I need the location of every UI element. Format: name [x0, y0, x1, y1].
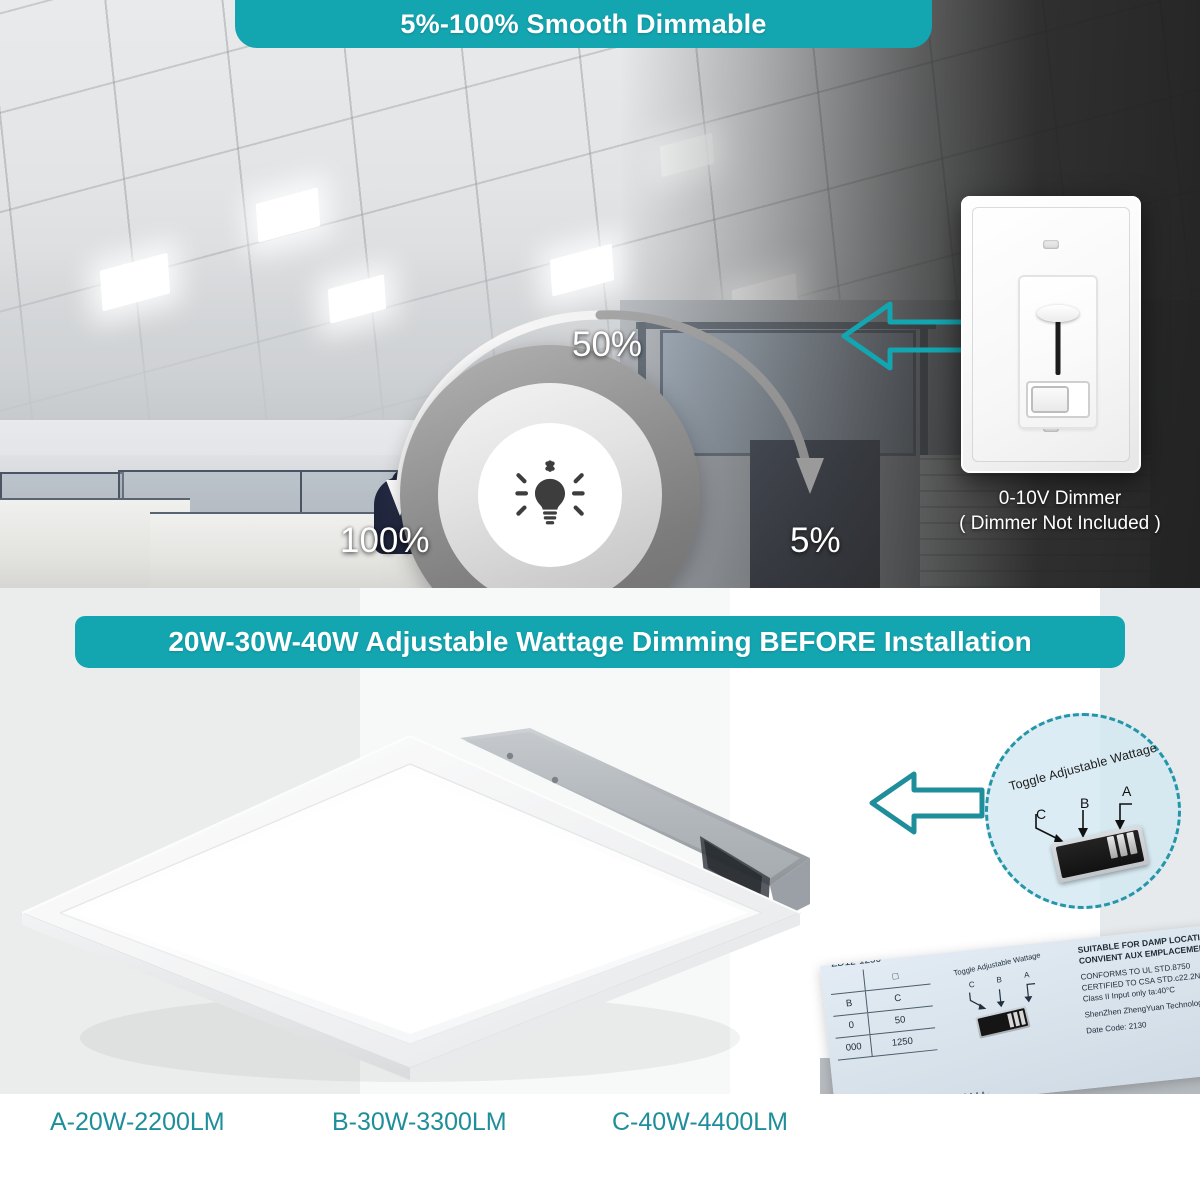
label-letter-a: A — [1024, 970, 1030, 980]
top-banner: 5%-100% Smooth Dimmable — [235, 0, 932, 48]
toggle-wattage-callout: Toggle Adjustable Wattage C B A — [985, 713, 1181, 909]
dimmer-control-plate[interactable] — [1020, 277, 1096, 427]
callout-title: Toggle Adjustable Wattage — [1003, 739, 1163, 794]
table-cell: B — [831, 991, 868, 1016]
dial-center — [478, 423, 622, 567]
dimmer-caption-line2: ( Dimmer Not Included ) — [920, 511, 1200, 536]
dimmer-caption-line1: 0-10V Dimmer — [920, 486, 1200, 511]
label-certification-text: SUITABLE FOR DAMP LOCATIONS CONVIENT AUX… — [1077, 931, 1200, 1036]
table-cell — [829, 969, 866, 994]
label-letter-b: B — [996, 975, 1002, 985]
screw-top-icon — [1043, 240, 1059, 249]
table-cell: 000 — [836, 1035, 873, 1060]
dimmer-caption: 0-10V Dimmer ( Dimmer Not Included ) — [920, 486, 1200, 536]
product-infographic: 5%-100% Smooth Dimmable — [0, 0, 1200, 1200]
wattage-options-row: A-20W-2200LM B-30W-3300LM C-40W-4400LM — [0, 1108, 830, 1168]
dimming-level-mid: 50% — [572, 325, 642, 365]
bottom-banner-title: 20W-30W-40W Adjustable Wattage Dimming B… — [168, 626, 1031, 658]
dimming-level-max: 100% — [340, 521, 430, 561]
top-section-smooth-dimmable: 5%-100% Smooth Dimmable — [0, 0, 1200, 588]
top-banner-title: 5%-100% Smooth Dimmable — [400, 9, 766, 40]
label-toggle-diagram: Toggle Adjustable Wattage C B A — [953, 953, 1072, 1060]
bottom-banner: 20W-30W-40W Adjustable Wattage Dimming B… — [75, 616, 1125, 668]
dimmer-rocker-switch[interactable] — [1033, 388, 1067, 411]
wattage-option-c: C-40W-4400LM — [612, 1108, 788, 1137]
table-cell: 0 — [833, 1013, 870, 1038]
dimmer-faceplate — [972, 207, 1130, 462]
wattage-option-b: B-30W-3300LM — [332, 1108, 507, 1137]
dimming-dial — [400, 345, 700, 588]
dimmer-slider-track[interactable] — [1056, 321, 1061, 375]
dimmer-rocker-frame[interactable] — [1028, 383, 1088, 416]
dimmer-slider-knob[interactable] — [1037, 305, 1079, 322]
arrow-left-icon — [838, 296, 970, 376]
wall-dimmer-switch[interactable] — [961, 196, 1141, 473]
label-spec-table: □ B C 0 50 000 1250 — [829, 963, 940, 1083]
lightbulb-icon — [513, 458, 587, 532]
led-flat-panel-light — [10, 708, 810, 1093]
wattage-option-a: A-20W-2200LM — [50, 1108, 225, 1137]
bottom-section-adjustable-wattage: 20W-30W-40W Adjustable Wattage Dimming B… — [0, 588, 1200, 1200]
callout-letter-a: A — [1122, 783, 1131, 799]
dimming-level-min: 5% — [790, 521, 841, 561]
arrow-left-icon — [866, 766, 988, 840]
